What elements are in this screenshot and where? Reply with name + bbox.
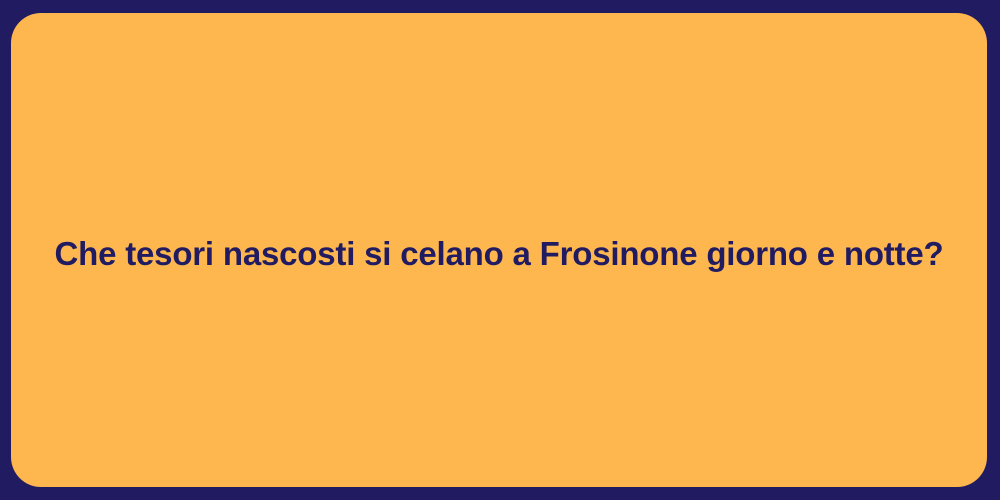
banner-card: Che tesori nascosti si celano a Frosinon…: [11, 13, 987, 487]
headline-block: Che tesori nascosti si celano a Frosinon…: [11, 234, 987, 274]
headline-question: Che tesori nascosti si celano a Frosinon…: [55, 234, 944, 274]
banner-root: Che tesori nascosti si celano a Frosinon…: [0, 0, 1000, 500]
